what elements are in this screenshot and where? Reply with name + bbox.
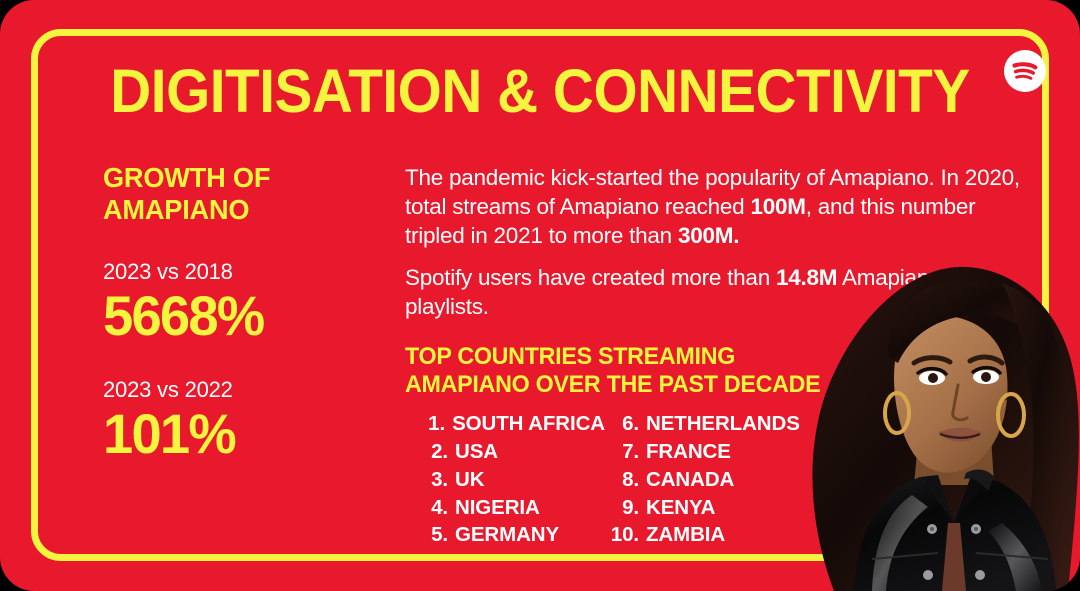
stat-block-2023-vs-2018: 2023 vs 2018 5668% bbox=[103, 259, 393, 345]
stat-value: 5668% bbox=[103, 286, 384, 345]
top-countries-heading: TOP COUNTRIES STREAMING AMAPIANO OVER TH… bbox=[405, 343, 1002, 398]
list-item: 1. SOUTH AFRICA bbox=[414, 410, 605, 438]
country-column-right: 6. NETHERLANDS 7. FRANCE 8. CANADA 9. KE… bbox=[605, 410, 815, 549]
paragraph-playlists-part1: Spotify users have created more than bbox=[405, 265, 776, 290]
paragraph-playlists-bold1: 14.8M bbox=[776, 265, 837, 290]
country-name: GERMANY bbox=[455, 521, 559, 549]
growth-heading: GROWTH OF AMAPIANO bbox=[103, 162, 384, 227]
list-item: 4. NIGERIA bbox=[414, 494, 605, 522]
list-item: 10. ZAMBIA bbox=[605, 521, 815, 549]
country-column-left: 1. SOUTH AFRICA 2. USA 3. UK 4. NIGERIA … bbox=[405, 410, 605, 549]
country-rank: 10. bbox=[605, 521, 639, 549]
country-rank: 1. bbox=[414, 410, 445, 438]
paragraph-streams-bold1: 100M bbox=[750, 194, 805, 219]
body-content-panel: The pandemic kick-started the popularity… bbox=[405, 163, 1020, 549]
list-item: 8. CANADA bbox=[605, 466, 815, 494]
list-item: 5. GERMANY bbox=[414, 521, 605, 549]
growth-stats-panel: GROWTH OF AMAPIANO 2023 vs 2018 5668% 20… bbox=[103, 162, 393, 464]
country-rank: 5. bbox=[414, 521, 448, 549]
page-title: DIGITISATION & CONNECTIVITY bbox=[38, 56, 1042, 126]
growth-heading-line1: GROWTH OF bbox=[103, 162, 384, 194]
country-rank: 9. bbox=[605, 494, 639, 522]
spotify-logo-icon bbox=[1004, 50, 1046, 92]
stat-label: 2023 vs 2022 bbox=[103, 377, 393, 403]
country-name: ZAMBIA bbox=[646, 521, 725, 549]
stat-block-2023-vs-2022: 2023 vs 2022 101% bbox=[103, 377, 393, 463]
country-name: NETHERLANDS bbox=[646, 410, 800, 438]
country-name: NIGERIA bbox=[455, 494, 540, 522]
country-name: UK bbox=[455, 466, 484, 494]
paragraph-streams-bold2: 300M. bbox=[678, 223, 739, 248]
country-name: USA bbox=[455, 438, 498, 466]
top-countries-heading-line1: TOP COUNTRIES STREAMING bbox=[405, 343, 1002, 371]
list-item: 9. KENYA bbox=[605, 494, 815, 522]
country-rank: 2. bbox=[414, 438, 448, 466]
paragraph-playlists: Spotify users have created more than 14.… bbox=[405, 263, 1020, 321]
list-item: 6. NETHERLANDS bbox=[605, 410, 815, 438]
country-rank: 8. bbox=[605, 466, 639, 494]
country-name: KENYA bbox=[646, 494, 715, 522]
infographic-poster: DIGITISATION & CONNECTIVITY GROWTH OF AM… bbox=[0, 0, 1080, 591]
growth-heading-line2: AMAPIANO bbox=[103, 194, 384, 226]
paragraph-streams: The pandemic kick-started the popularity… bbox=[405, 163, 1020, 250]
country-name: SOUTH AFRICA bbox=[452, 410, 605, 438]
stat-value: 101% bbox=[103, 404, 384, 463]
list-item: 2. USA bbox=[414, 438, 605, 466]
top-countries-list: 1. SOUTH AFRICA 2. USA 3. UK 4. NIGERIA … bbox=[405, 410, 1020, 549]
stat-label: 2023 vs 2018 bbox=[103, 259, 393, 285]
country-rank: 4. bbox=[414, 494, 448, 522]
country-rank: 7. bbox=[605, 438, 639, 466]
country-rank: 6. bbox=[605, 410, 639, 438]
country-name: FRANCE bbox=[646, 438, 731, 466]
top-countries-heading-line2: AMAPIANO OVER THE PAST DECADE bbox=[405, 371, 1002, 399]
list-item: 7. FRANCE bbox=[605, 438, 815, 466]
country-name: CANADA bbox=[646, 466, 734, 494]
country-rank: 3. bbox=[414, 466, 448, 494]
list-item: 3. UK bbox=[414, 466, 605, 494]
